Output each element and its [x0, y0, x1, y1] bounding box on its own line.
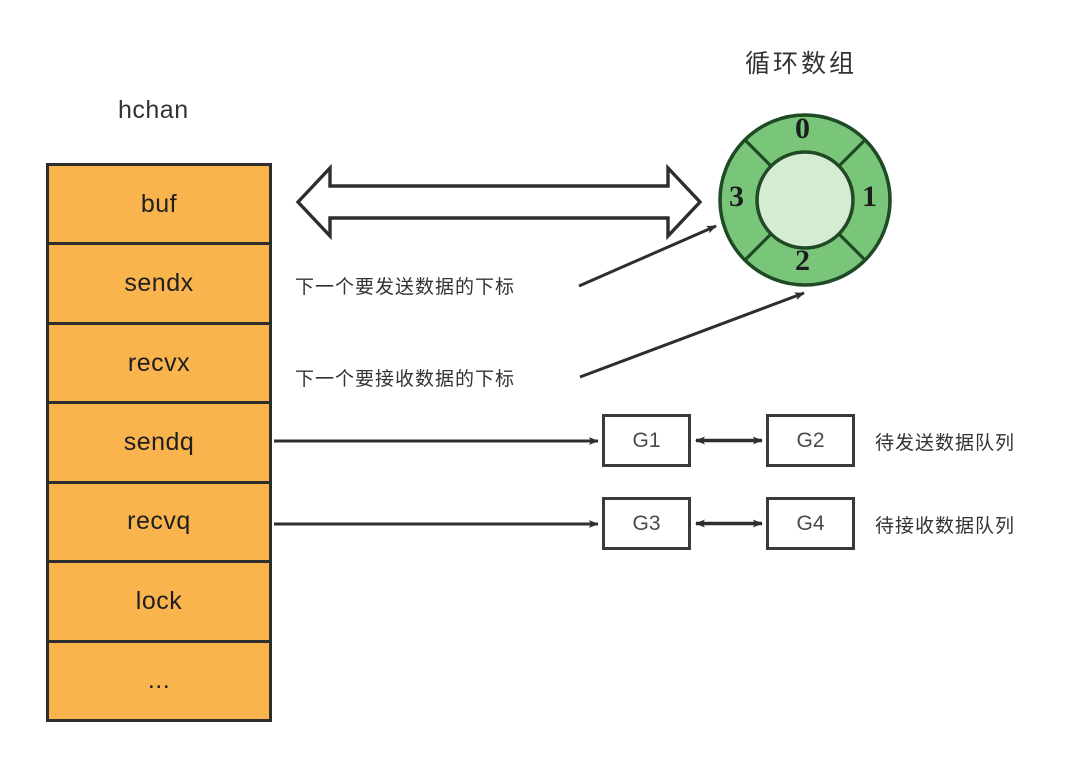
goroutine-node-g3[interactable]: G3 [602, 497, 691, 550]
hchan-field-lock[interactable]: lock [49, 563, 269, 642]
goroutine-node-g4[interactable]: G4 [766, 497, 855, 550]
hchan-field-label: recvx [128, 349, 190, 378]
hchan-field-buf[interactable]: buf [49, 166, 269, 245]
hchan-struct-table: buf sendx recvx sendq recvq lock ... [46, 163, 272, 722]
hchan-field-ellipsis[interactable]: ... [49, 643, 269, 719]
hchan-field-recvq[interactable]: recvq [49, 484, 269, 563]
hchan-field-label: recvq [127, 507, 191, 536]
ring-index-0: 0 [795, 112, 810, 146]
ring-index-3: 3 [729, 180, 744, 214]
hchan-field-recvx[interactable]: recvx [49, 325, 269, 404]
recvq-annotation: 待接收数据队列 [875, 511, 1015, 538]
recvx-pointer-arrow [580, 293, 804, 377]
hchan-field-label: sendx [124, 269, 193, 298]
sendq-annotation: 待发送数据队列 [875, 428, 1015, 455]
hchan-field-sendx[interactable]: sendx [49, 245, 269, 324]
hchan-title: hchan [118, 96, 189, 125]
goroutine-node-g1[interactable]: G1 [602, 414, 691, 467]
hchan-field-label: sendq [124, 428, 195, 457]
goroutine-node-g2[interactable]: G2 [766, 414, 855, 467]
hchan-field-label: lock [136, 587, 182, 616]
hchan-field-label: buf [141, 190, 177, 219]
sendx-pointer-arrow [579, 226, 716, 286]
buf-to-ring-connector [298, 168, 700, 236]
goroutine-label: G4 [796, 512, 824, 536]
ring-index-1: 1 [862, 180, 877, 214]
recvx-annotation: 下一个要接收数据的下标 [295, 364, 515, 391]
goroutine-label: G1 [632, 429, 660, 453]
ring-title: 循环数组 [745, 44, 857, 80]
ring-index-2: 2 [795, 244, 810, 278]
hchan-field-label: ... [148, 666, 170, 695]
hchan-field-sendq[interactable]: sendq [49, 404, 269, 483]
goroutine-label: G3 [632, 512, 660, 536]
sendx-annotation: 下一个要发送数据的下标 [295, 272, 515, 299]
goroutine-label: G2 [796, 429, 824, 453]
